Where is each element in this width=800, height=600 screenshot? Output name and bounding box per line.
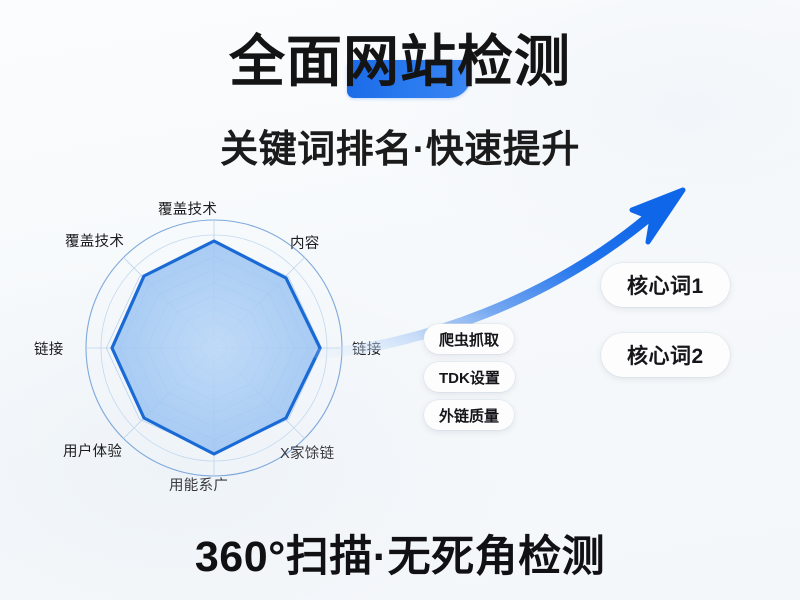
- keyword-pill-1[interactable]: 核心词1: [601, 263, 730, 307]
- footer-tagline: 360°扫描·无死角检测: [0, 522, 800, 584]
- keyword-pill-2[interactable]: 核心词2: [601, 333, 730, 377]
- feature-pill-crawl-label: 爬虫抓取: [439, 329, 499, 350]
- radar-label-bottom-left: 用户体验: [63, 440, 122, 461]
- radar-label-bottom: 用能系广: [169, 474, 228, 495]
- radar-label-top-left: 覆盖技术: [65, 230, 124, 251]
- keyword-pill-1-label: 核心词1: [627, 270, 704, 300]
- headline-block: 全面网站检测: [0, 34, 800, 90]
- radar-label-left: 链接: [34, 338, 64, 359]
- feature-pill-crawl[interactable]: 爬虫抓取: [424, 324, 514, 354]
- keyword-pill-2-label: 核心词2: [627, 340, 704, 370]
- feature-pill-backlink[interactable]: 外链质量: [424, 400, 514, 430]
- page-title: 全面网站检测: [229, 34, 571, 90]
- feature-pill-backlink-label: 外链质量: [439, 405, 499, 426]
- headline-inner: 全面网站检测: [229, 34, 571, 90]
- page-subtitle: 关键词排名·快速提升: [0, 118, 800, 173]
- feature-pill-tdk[interactable]: TDK设置: [424, 362, 515, 392]
- poster-canvas: 全面网站检测 关键词排名·快速提升: [0, 0, 800, 600]
- feature-pill-tdk-label: TDK设置: [439, 367, 500, 388]
- radar-label-top: 覆盖技术: [158, 198, 217, 219]
- arrow-head: [632, 190, 683, 242]
- radar-label-bottom-right: X家馀链: [280, 442, 334, 463]
